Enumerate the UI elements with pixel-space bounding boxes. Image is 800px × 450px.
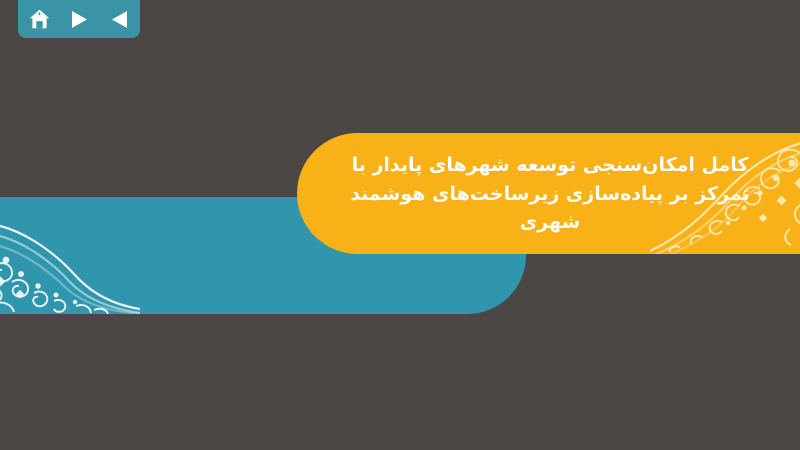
page-title: کامل امکان‌سنجی توسعه شهرهای پایدار با ت…: [300, 134, 800, 254]
triangle-right-icon: [71, 10, 88, 29]
title-line-2: تمرکز بر پیاده‌سازی زیرساخت‌های هوشمند: [350, 180, 750, 209]
previous-button[interactable]: [106, 7, 132, 31]
arabesque-ornament-teal: [0, 197, 140, 314]
triangle-left-icon: [111, 10, 128, 29]
title-line-3: شهری: [520, 208, 580, 237]
slide-canvas: کامل امکان‌سنجی توسعه شهرهای پایدار با ت…: [0, 0, 800, 450]
home-icon: [29, 9, 50, 29]
next-button[interactable]: [66, 7, 92, 31]
home-button[interactable]: [26, 7, 52, 31]
title-line-1: کامل امکان‌سنجی توسعه شهرهای پایدار با: [352, 151, 749, 180]
navigation-bar: [18, 0, 140, 38]
